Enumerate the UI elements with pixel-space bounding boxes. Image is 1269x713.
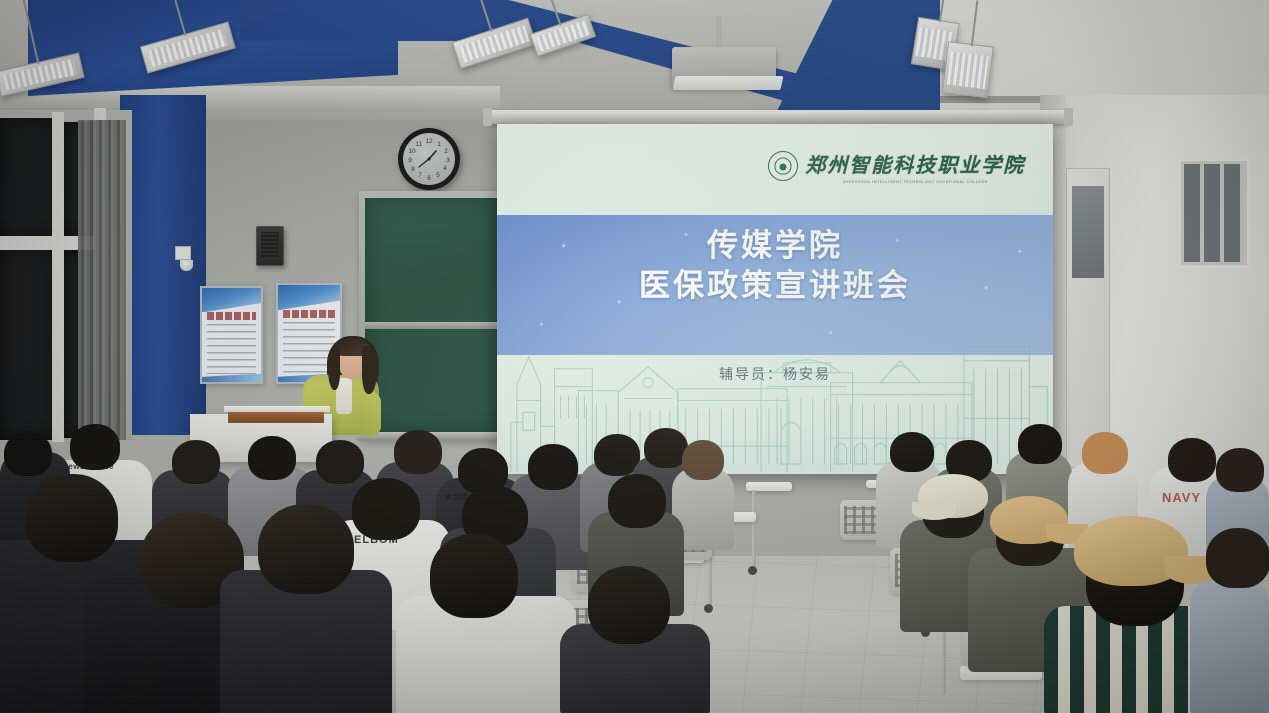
security-camera-mount xyxy=(175,246,191,260)
slide-title-line1: 传媒学院 xyxy=(497,226,1053,267)
audience-member-head xyxy=(890,432,934,472)
poster-title xyxy=(207,312,257,320)
clock-face: 1212 345 678 91011 xyxy=(403,133,455,185)
slide-title: 传媒学院 医保政策宣讲班会 xyxy=(497,226,1053,308)
security-camera-icon xyxy=(180,260,193,271)
podium-top-surface xyxy=(224,406,330,412)
roller-cap-right xyxy=(1064,108,1073,126)
svg-text:11: 11 xyxy=(416,141,423,148)
chalkboard-surface xyxy=(365,198,498,432)
door-glass-panel xyxy=(1072,186,1104,278)
audience-member-head xyxy=(608,474,666,528)
projection-screen-roller[interactable] xyxy=(487,110,1069,124)
clock-hands: 1212 345 678 91011 xyxy=(403,133,455,185)
roller-cap-left xyxy=(483,108,492,126)
shirt-print-text: NAVY xyxy=(1162,490,1201,505)
svg-text:6: 6 xyxy=(427,175,431,182)
poster-title xyxy=(283,310,335,318)
audience-member-head xyxy=(682,440,724,480)
poster-body-text xyxy=(207,324,257,375)
audience-member-head xyxy=(1018,424,1062,464)
audience-member-head xyxy=(430,534,518,618)
audience-member-head xyxy=(248,436,296,480)
wall-column-blue xyxy=(120,95,206,435)
projection-screen: 郑州智能科技职业学院 ZHENGZHOU INTELLIGENT TECHNOL… xyxy=(497,124,1053,474)
institution-logo: 郑州智能科技职业学院 ZHENGZHOU INTELLIGENT TECHNOL… xyxy=(768,149,1025,184)
svg-text:8: 8 xyxy=(411,166,415,173)
light-tube xyxy=(947,52,989,89)
audience-member-head xyxy=(528,444,578,490)
desk-caster xyxy=(704,604,713,613)
projector-mount-plate xyxy=(673,76,784,90)
ceiling-light-6 xyxy=(942,41,994,98)
svg-text:10: 10 xyxy=(408,148,416,155)
svg-text:3: 3 xyxy=(446,157,450,164)
window-mullion-vertical xyxy=(52,112,64,442)
svg-text:9: 9 xyxy=(408,157,412,164)
speaker-hair-right xyxy=(362,346,377,394)
light-body xyxy=(942,41,994,98)
poster-header xyxy=(202,288,261,312)
audience-member-head xyxy=(172,440,220,484)
audience-member-head xyxy=(588,566,670,644)
audience-member-head xyxy=(1168,438,1216,482)
audience-member-head xyxy=(1206,528,1269,588)
window-pane-3 xyxy=(0,248,56,440)
desk-caster xyxy=(748,566,757,575)
institution-name-block: 郑州智能科技职业学院 ZHENGZHOU INTELLIGENT TECHNOL… xyxy=(805,149,1025,184)
right-wall-window-glass xyxy=(1184,164,1244,262)
svg-text:12: 12 xyxy=(425,138,433,145)
shirt-print-text: NewBalance xyxy=(62,462,114,471)
institution-name-cn: 郑州智能科技职业学院 xyxy=(805,149,1025,178)
poster-footer xyxy=(202,374,261,382)
institution-seal-icon xyxy=(768,151,798,181)
svg-text:2: 2 xyxy=(444,148,448,155)
presentation-slide: 郑州智能科技职业学院 ZHENGZHOU INTELLIGENT TECHNOL… xyxy=(497,124,1053,474)
audience-member-head xyxy=(26,474,118,562)
speaker-hair-left xyxy=(328,346,340,390)
audience-member-head xyxy=(258,504,354,594)
wall-clock: 1212 345 678 91011 xyxy=(398,128,460,190)
svg-text:1: 1 xyxy=(437,141,441,148)
audience-member-head xyxy=(352,478,420,540)
slide-title-line2: 医保政策宣讲班会 xyxy=(497,266,1053,307)
svg-text:7: 7 xyxy=(418,172,422,179)
speaker-arm xyxy=(357,392,381,436)
poster-header xyxy=(278,285,340,310)
cap-brim xyxy=(912,502,956,520)
audience-member-head xyxy=(4,432,52,476)
svg-text:4: 4 xyxy=(443,165,447,172)
audience-member-torso xyxy=(1190,580,1269,713)
desk-leg xyxy=(752,490,756,568)
audience-member-head xyxy=(394,430,442,474)
slide-presenter: 辅导员：杨安易 xyxy=(497,364,1053,384)
window-pane-1 xyxy=(0,118,58,238)
classroom-photo: 1212 345 678 91011 xyxy=(0,0,1269,713)
audience-member-head xyxy=(1216,448,1264,492)
wall-speaker-icon xyxy=(256,226,284,266)
audience-member-head xyxy=(1082,432,1128,474)
wall-poster-left xyxy=(200,286,263,384)
svg-text:5: 5 xyxy=(436,172,440,179)
chalkboard-divider xyxy=(365,322,498,329)
window-curtain[interactable] xyxy=(78,120,126,440)
audience-member-head xyxy=(316,440,364,484)
institution-name-en: ZHENGZHOU INTELLIGENT TECHNOLOGY VOCATIO… xyxy=(843,180,988,184)
